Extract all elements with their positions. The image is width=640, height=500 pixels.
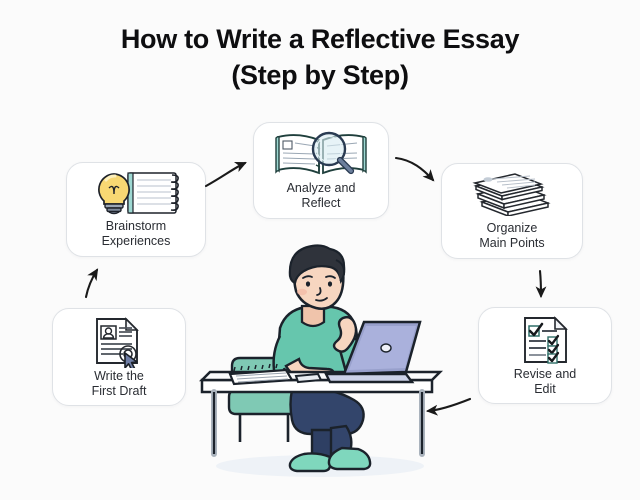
arrow-draft-to-brainstorm [86,270,97,297]
arrow-organize-to-revise [540,271,541,296]
checklist-document-icon [479,315,611,365]
step-card-analyze[interactable]: Analyze and Reflect [253,122,389,219]
step-label-line-1: Brainstorm [106,219,166,233]
infographic-canvas: How to Write a Reflective Essay (Step by… [0,0,640,500]
step-card-brainstorm-label: Brainstorm Experiences [67,219,205,250]
step-label-line-2: Experiences [102,234,171,248]
paper-stack-icon [442,172,582,216]
step-label-line-2: Edit [534,382,556,396]
step-label-line-2: Reflect [302,196,341,210]
document-avatar-cursor-icon [53,316,185,368]
step-label-line-1: Organize [487,221,538,235]
page-title-line-1: How to Write a Reflective Essay [0,22,640,58]
page-title-line-2: (Step by Step) [0,58,640,94]
open-book-magnifier-icon [254,129,388,179]
step-card-draft-label: Write the First Draft [53,369,185,400]
step-card-analyze-label: Analyze and Reflect [254,181,388,212]
arrow-analyze-to-organize [396,158,433,180]
step-label-line-1: Analyze and [287,181,356,195]
step-card-organize-label: Organize Main Points [442,221,582,252]
student-at-desk-illustration [196,240,446,480]
lightbulb-notebook-icon [67,170,205,216]
step-card-revise[interactable]: Revise and Edit [478,307,612,404]
step-label-line-1: Write the [94,369,144,383]
page-title: How to Write a Reflective Essay (Step by… [0,22,640,93]
step-card-brainstorm[interactable]: Brainstorm Experiences [66,162,206,257]
step-label-line-2: First Draft [92,384,147,398]
step-card-organize[interactable]: Organize Main Points [441,163,583,259]
arrow-brainstorm-to-analyze [206,163,245,186]
step-label-line-1: Revise and [514,367,577,381]
step-label-line-2: Main Points [479,236,544,250]
step-card-draft[interactable]: Write the First Draft [52,308,186,406]
step-card-revise-label: Revise and Edit [479,367,611,398]
